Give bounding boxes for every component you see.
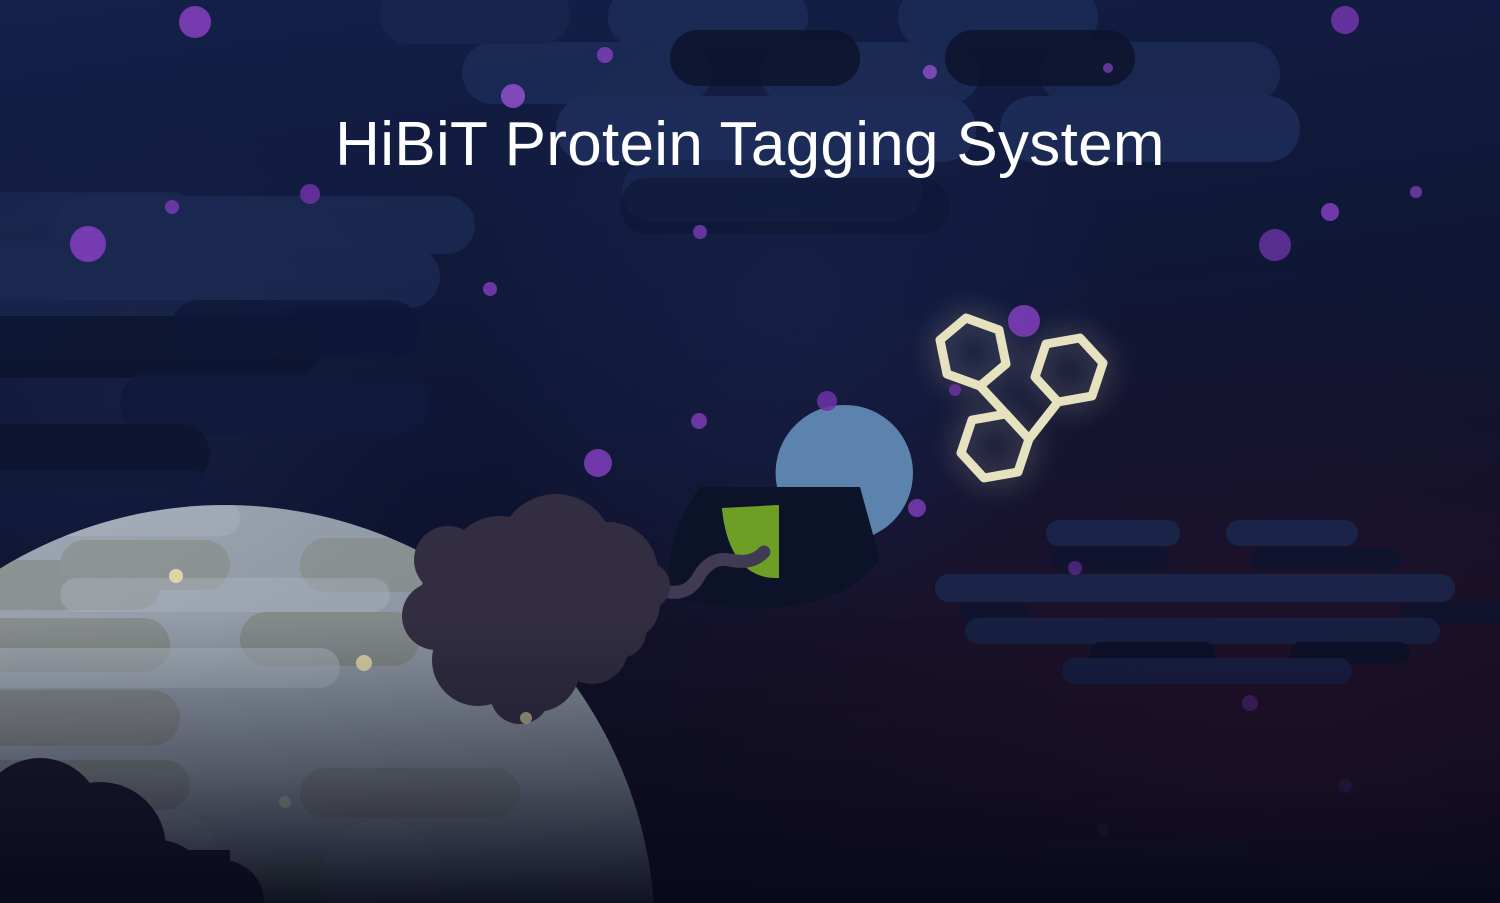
bottom-vignette-layer xyxy=(0,0,1500,903)
hero-banner: HiBiT Protein Tagging System xyxy=(0,0,1500,903)
bottom-shade xyxy=(0,620,1500,903)
